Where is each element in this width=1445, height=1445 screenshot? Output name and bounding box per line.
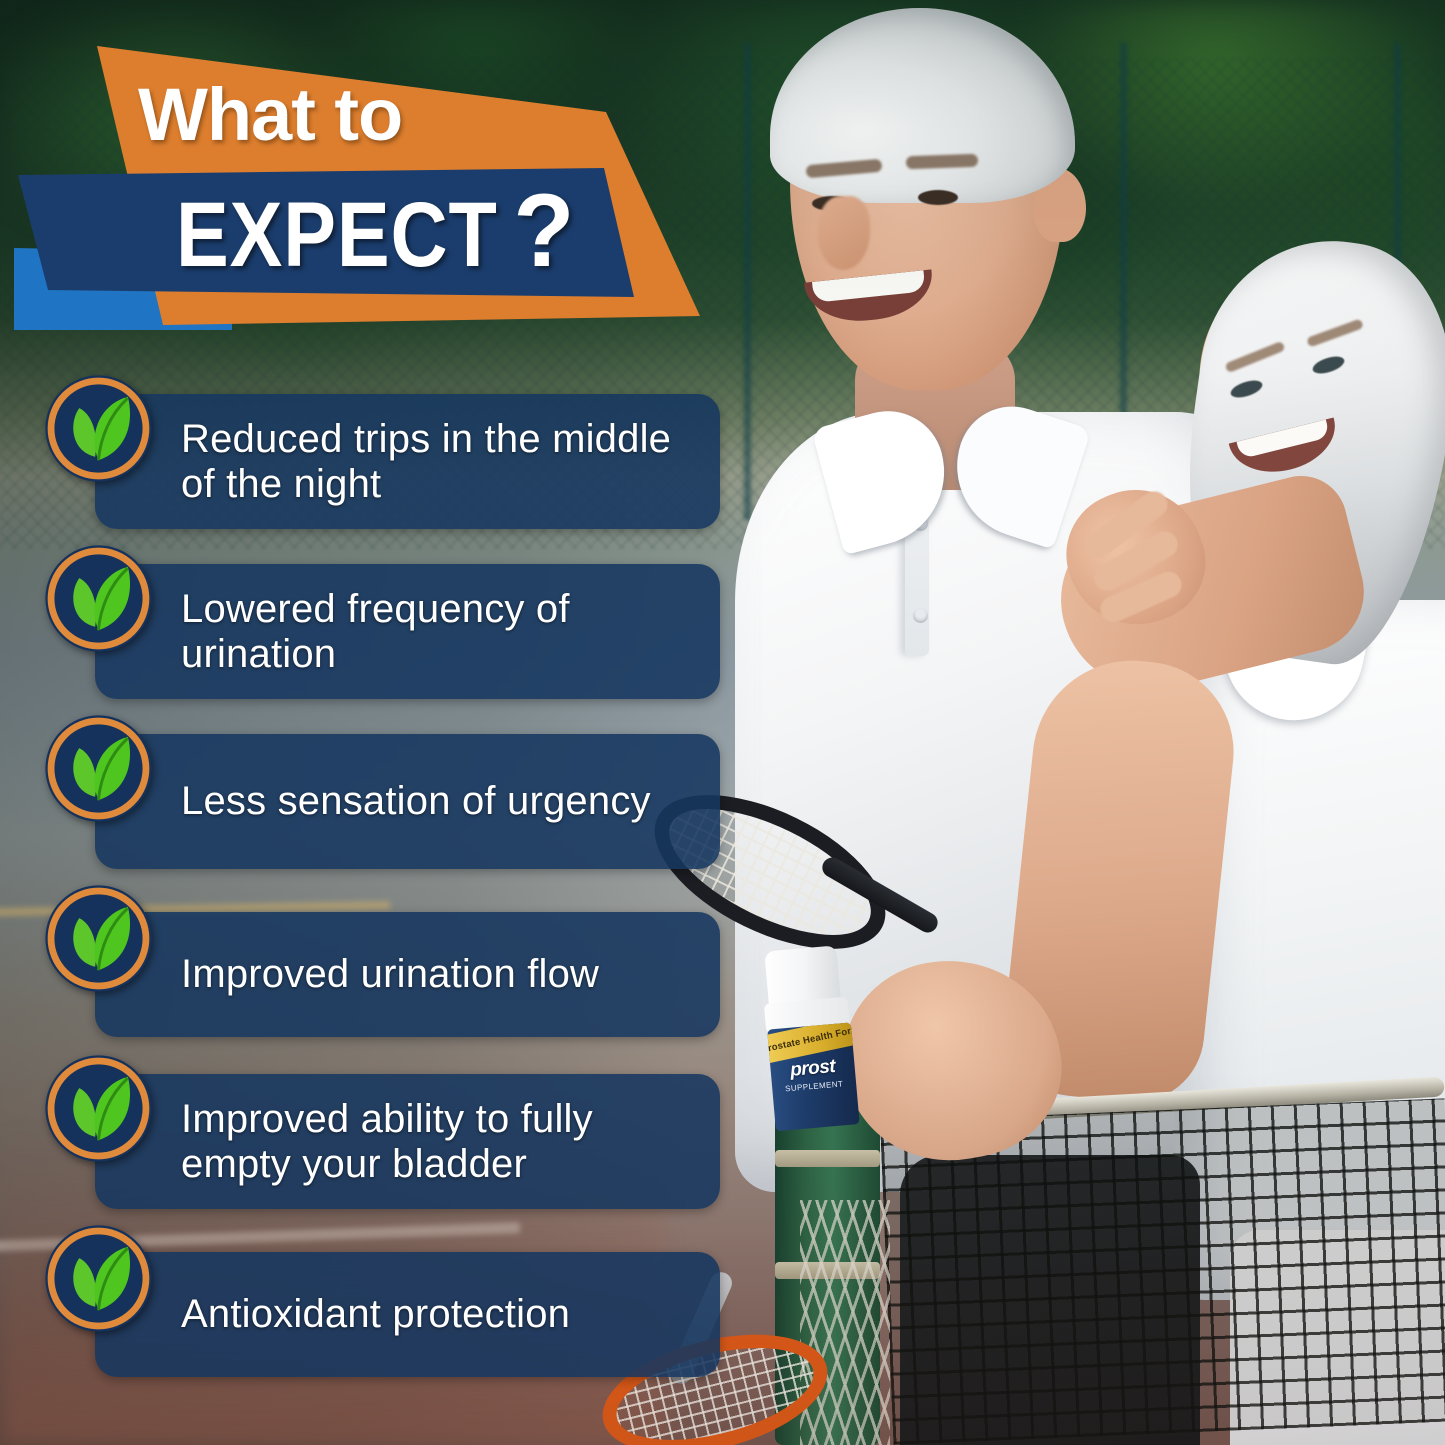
benefit-pill: Lowered frequency of urination	[95, 564, 720, 699]
banner-title-line2: EXPECT ?	[176, 172, 572, 291]
benefit-label: Lowered frequency of urination	[181, 587, 702, 677]
man-eye	[918, 190, 958, 205]
benefit-label: Improved ability to fully empty your bla…	[181, 1097, 702, 1187]
leaf-badge-icon	[42, 882, 155, 995]
benefit-label: Less sensation of urgency	[181, 779, 651, 824]
leaf-badge-icon	[42, 1222, 155, 1335]
bottle-label: Prostate Health Formula prost SUPPLEMENT	[767, 1022, 860, 1131]
man-shirt-button	[913, 608, 928, 623]
benefit-label: Antioxidant protection	[181, 1292, 570, 1337]
question-mark-glyph: ?	[513, 172, 575, 291]
benefit-label: Improved urination flow	[181, 952, 599, 997]
banner-expect-text: EXPECT	[176, 183, 498, 288]
benefit-pill: Improved urination flow	[95, 912, 720, 1037]
benefit-item: Reduced trips in the middle of the night	[0, 372, 760, 542]
net-post-strap	[775, 1150, 880, 1167]
banner-title-line1: What to	[138, 72, 402, 157]
net-frayed-skirt	[800, 1200, 890, 1445]
leaf-badge-icon	[42, 1052, 155, 1165]
benefit-item: Improved urination flow	[0, 882, 760, 1052]
header-banner: What to EXPECT ?	[0, 0, 760, 350]
benefit-item: Improved ability to fully empty your bla…	[0, 1052, 760, 1222]
benefit-item: Antioxidant protection	[0, 1222, 760, 1392]
benefit-list: Reduced trips in the middle of the night…	[0, 372, 760, 1392]
leaf-badge-icon	[42, 372, 155, 485]
benefit-label: Reduced trips in the middle of the night	[181, 417, 702, 507]
leaf-badge-icon	[42, 712, 155, 825]
supplement-bottle: Prostate Health Formula prost SUPPLEMENT	[756, 944, 863, 1131]
benefit-item: Lowered frequency of urination	[0, 542, 760, 712]
benefit-pill: Reduced trips in the middle of the night	[95, 394, 720, 529]
benefit-pill: Improved ability to fully empty your bla…	[95, 1074, 720, 1209]
promo-graphic: Prostate Health Formula prost SUPPLEMENT…	[0, 0, 1445, 1445]
benefit-item: Less sensation of urgency	[0, 712, 760, 882]
benefit-pill: Antioxidant protection	[95, 1252, 720, 1377]
man-eyebrow	[906, 154, 978, 170]
benefit-pill: Less sensation of urgency	[95, 734, 720, 869]
leaf-badge-icon	[42, 542, 155, 655]
